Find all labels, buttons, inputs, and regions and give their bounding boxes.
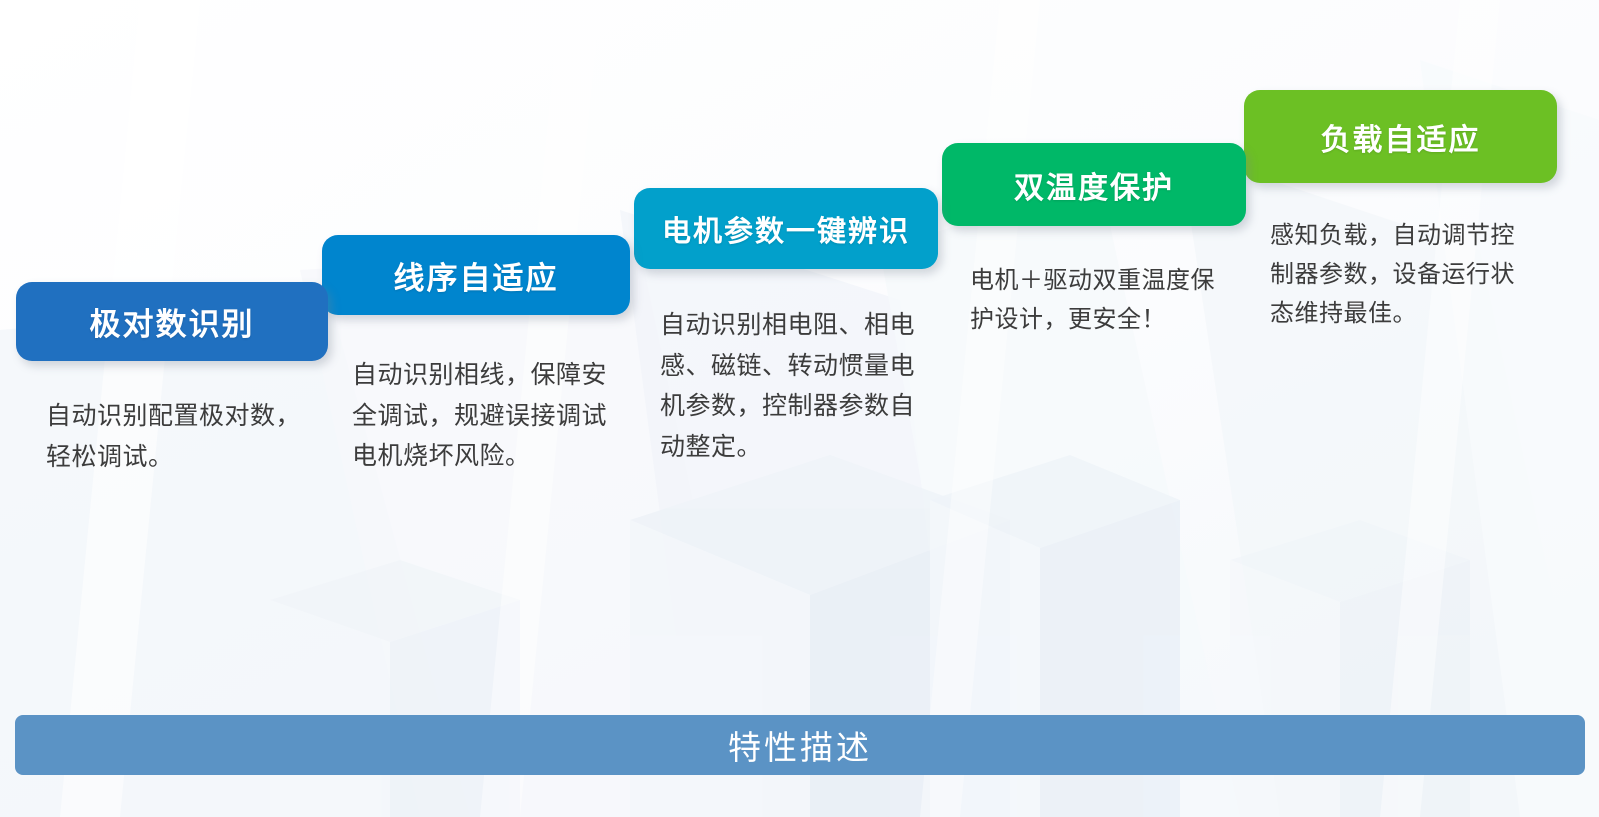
feature-card-header[interactable]: 双温度保护 xyxy=(942,143,1246,226)
feature-card-title: 线序自适应 xyxy=(394,253,559,298)
feature-card-description: 电机＋驱动双重温度保护设计，更安全！ xyxy=(970,262,1222,340)
feature-card-header[interactable]: 极对数识别 xyxy=(16,282,328,361)
feature-card-description: 感知负载，自动调节控制器参数，设备运行状态维持最佳。 xyxy=(1270,217,1526,334)
feature-card-header[interactable]: 负载自适应 xyxy=(1244,90,1557,183)
feature-card-description: 自动识别配置极对数，轻松调试。 xyxy=(46,396,308,477)
feature-card-title: 电机参数一键辨识 xyxy=(662,208,910,250)
feature-card-description: 自动识别相线，保障安全调试，规避误接调试电机烧坏风险。 xyxy=(352,355,610,477)
feature-description-banner: 特性描述 xyxy=(15,715,1585,775)
feature-card-title: 双温度保护 xyxy=(1014,163,1174,207)
feature-overview-page: 极对数识别 自动识别配置极对数，轻松调试。 线序自适应 自动识别相线，保障安全调… xyxy=(0,0,1599,817)
feature-description-banner-label: 特性描述 xyxy=(728,721,872,769)
feature-card-header[interactable]: 电机参数一键辨识 xyxy=(634,188,938,269)
feature-card-description: 自动识别相电阻、相电感、磁链、转动惯量电机参数，控制器参数自动整定。 xyxy=(660,305,918,467)
feature-card-title: 负载自适应 xyxy=(1321,115,1481,159)
feature-card-title: 极对数识别 xyxy=(90,299,255,344)
feature-card-header[interactable]: 线序自适应 xyxy=(322,235,630,315)
